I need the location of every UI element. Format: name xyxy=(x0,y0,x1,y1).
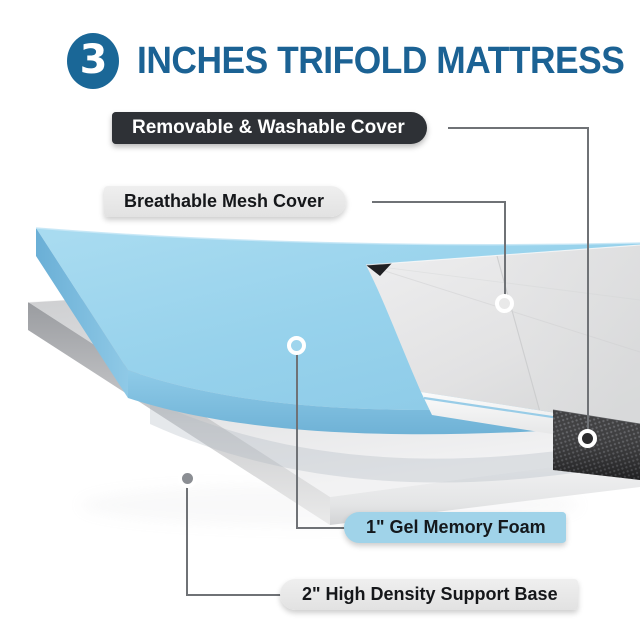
leader-line-base-h xyxy=(186,594,282,596)
callout-label-mesh: Breathable Mesh Cover xyxy=(124,191,324,212)
callout-gel-memory-foam[interactable]: 1" Gel Memory Foam xyxy=(344,512,566,543)
leader-line-base-v xyxy=(186,484,188,595)
marker-breathable-mesh-cover[interactable] xyxy=(495,294,514,313)
callout-label-gel: 1" Gel Memory Foam xyxy=(366,517,546,538)
leader-line-mesh-h xyxy=(372,201,506,203)
callout-label-base: 2" High Density Support Base xyxy=(302,584,558,605)
marker-support-base[interactable] xyxy=(178,469,197,488)
marker-removable-washable-cover[interactable] xyxy=(578,429,597,448)
infographic-canvas: 3 INCHES TRIFOLD MATTRESS xyxy=(0,0,640,640)
callout-label-removable: Removable & Washable Cover xyxy=(132,117,405,139)
leader-line-gel-v xyxy=(296,352,298,528)
leader-line-removable-v xyxy=(587,127,589,432)
callout-removable-washable-cover[interactable]: Removable & Washable Cover xyxy=(112,112,427,144)
callout-high-density-support-base[interactable]: 2" High Density Support Base xyxy=(280,579,578,610)
leader-line-gel-h xyxy=(296,527,346,529)
marker-gel-memory-foam[interactable] xyxy=(287,336,306,355)
leader-line-mesh-v xyxy=(504,201,506,298)
trifold-mattress-illustration xyxy=(0,0,640,640)
callout-breathable-mesh-cover[interactable]: Breathable Mesh Cover xyxy=(104,186,346,217)
leader-line-removable-h xyxy=(448,127,588,129)
